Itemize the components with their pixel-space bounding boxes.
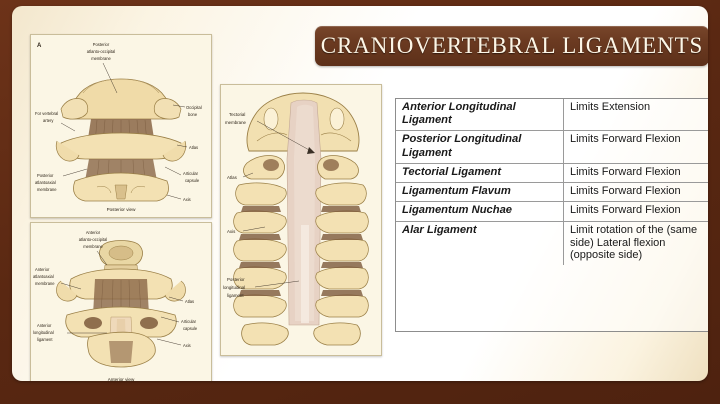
label-axis: Axis bbox=[183, 197, 191, 202]
ligament-action-cell: Limits Forward Flexion bbox=[564, 163, 709, 182]
tectorial-membrane-illustration: Tectorial membrane Atlas Axis Posterior … bbox=[221, 85, 381, 355]
ligament-name-cell: Anterior Longitudinal Ligament bbox=[396, 99, 564, 131]
ligament-action-cell: Limits Forward Flexion bbox=[564, 183, 709, 202]
label-ant-ao-2: atlanto-occipital bbox=[79, 237, 108, 242]
slide-root: CRANIOVERTEBRAL LIGAMENTS bbox=[0, 0, 720, 404]
table-row: Posterior Longitudinal Ligament Limits F… bbox=[396, 131, 708, 163]
slide-title-banner: CRANIOVERTEBRAL LIGAMENTS bbox=[315, 26, 708, 66]
ligament-action-cell: Limit rotation of the (same side) Latera… bbox=[564, 221, 709, 265]
table-row: Anterior Longitudinal Ligament Limits Ex… bbox=[396, 99, 708, 131]
table-row: Tectorial Ligament Limits Forward Flexio… bbox=[396, 163, 708, 182]
ligament-name-cell: Tectorial Ligament bbox=[396, 163, 564, 182]
label-tectorial-1: Tectorial bbox=[229, 112, 245, 117]
label-atlantoaxial-1: Posterior bbox=[37, 173, 54, 178]
label-ant-ao-3: membrane bbox=[83, 244, 103, 249]
label-ant-aa-2: atlantoaxial bbox=[33, 274, 54, 279]
ligament-table-element: Anterior Longitudinal Ligament Limits Ex… bbox=[396, 99, 708, 265]
label-vertebral-artery-2: artery bbox=[43, 118, 54, 123]
label-tect-atlas: Atlas bbox=[227, 175, 238, 180]
ligament-action-cell: Limits Forward Flexion bbox=[564, 202, 709, 221]
label-ant-ao-1: Anterior bbox=[86, 230, 101, 235]
ligament-action-cell: Limits Forward Flexion bbox=[564, 131, 709, 163]
label-occipital-1: Occipital bbox=[186, 105, 202, 110]
label-ant-capsule-2: capsule bbox=[183, 326, 198, 331]
label-ant-aa-1: Anterior bbox=[35, 267, 50, 272]
table-row: Alar Ligament Limit rotation of the (sam… bbox=[396, 221, 708, 265]
label-ant-capsule-1: Articular bbox=[181, 319, 197, 324]
label-tectorial-2: membrane bbox=[225, 120, 247, 125]
figure-anterior-view: Anterior atlanto-occipital membrane Ante… bbox=[30, 222, 212, 381]
figure-panel-letter: A bbox=[37, 43, 42, 49]
figure-caption-anterior: Anterior view bbox=[108, 377, 135, 381]
ligament-name-cell: Ligamentum Nuchae bbox=[396, 202, 564, 221]
label-ant-atlas: Atlas bbox=[185, 299, 194, 304]
label-posterior-3: membrane bbox=[91, 56, 111, 61]
figure-posterior-view: A Posterior atlanto-occipital membrane F… bbox=[30, 34, 212, 218]
ligament-actions-table: Anterior Longitudinal Ligament Limits Ex… bbox=[395, 98, 708, 332]
label-vertebral-artery-1: For vertebral bbox=[35, 111, 58, 116]
slide-surface: CRANIOVERTEBRAL LIGAMENTS bbox=[12, 6, 708, 381]
table-row: Ligamentum Flavum Limits Forward Flexion bbox=[396, 183, 708, 202]
label-atlas: Atlas bbox=[189, 145, 198, 150]
label-all-2: longitudinal bbox=[33, 330, 54, 335]
label-pll-1: Posterior bbox=[227, 277, 245, 282]
figure-caption-posterior: Posterior view bbox=[107, 207, 137, 212]
label-ant-axis: Axis bbox=[183, 343, 191, 348]
table-row: Ligamentum Nuchae Limits Forward Flexion bbox=[396, 202, 708, 221]
figure-tectorial-membrane: Tectorial membrane Atlas Axis Posterior … bbox=[220, 84, 382, 356]
label-all-3: ligament bbox=[37, 337, 53, 342]
label-all-1: Anterior bbox=[37, 323, 52, 328]
posterior-view-illustration: A Posterior atlanto-occipital membrane F… bbox=[31, 35, 211, 217]
label-tect-axis: Axis bbox=[227, 229, 236, 234]
ligament-action-cell: Limits Extension bbox=[564, 99, 709, 131]
label-atlantoaxial-3: membrane bbox=[37, 187, 57, 192]
page-title: CRANIOVERTEBRAL LIGAMENTS bbox=[321, 33, 704, 59]
label-posterior-1: Posterior bbox=[93, 42, 110, 47]
label-pll-2: longitudinal bbox=[223, 285, 245, 290]
ligament-name-cell: Alar Ligament bbox=[396, 221, 564, 265]
label-articular-capsule-1: Articular bbox=[183, 171, 199, 176]
label-posterior-2: atlanto-occipital bbox=[87, 49, 116, 54]
label-occipital-2: bone bbox=[188, 112, 198, 117]
anterior-view-illustration: Anterior atlanto-occipital membrane Ante… bbox=[31, 223, 211, 381]
ligament-name-cell: Posterior Longitudinal Ligament bbox=[396, 131, 564, 163]
label-articular-capsule-2: capsule bbox=[185, 178, 200, 183]
ligament-name-cell: Ligamentum Flavum bbox=[396, 183, 564, 202]
label-atlantoaxial-2: atlantoaxial bbox=[35, 180, 56, 185]
label-ant-aa-3: membrane bbox=[35, 281, 55, 286]
label-pll-3: ligament bbox=[227, 293, 244, 298]
